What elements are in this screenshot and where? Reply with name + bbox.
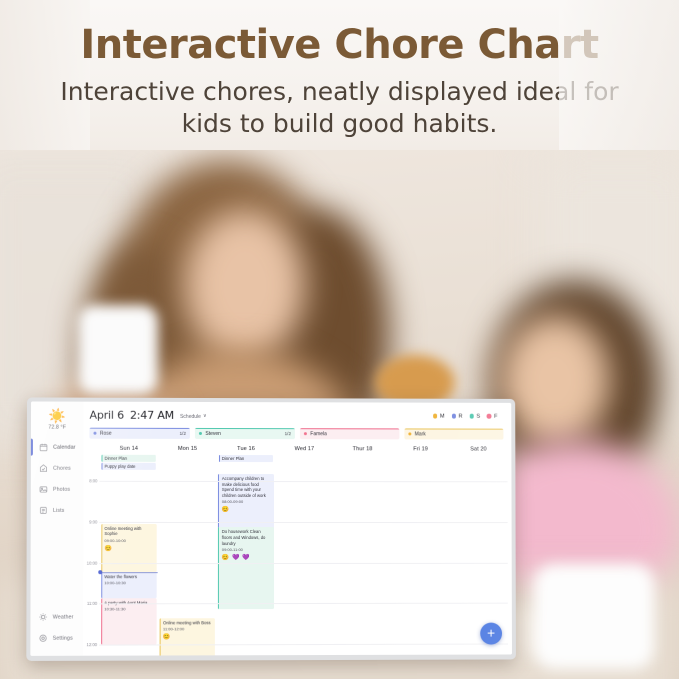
- member-chip-accent: [195, 428, 295, 430]
- sidebar-weather-widget[interactable]: ☀️ 72.8 °F: [31, 406, 84, 436]
- all-day-column: [334, 455, 392, 470]
- photos-icon: [39, 485, 48, 494]
- event-accent-bar: [101, 524, 102, 572]
- current-date: April 6: [89, 409, 123, 422]
- day-header-row: Sun 14Mon 15Tue 16Wed 17Thur 18Fri 19Sat…: [83, 444, 511, 456]
- plus-icon: +: [487, 626, 495, 640]
- member-chip-accent: [404, 428, 503, 430]
- lists-icon: [39, 506, 48, 515]
- time-grid-body: 8:009:0010:0011:0012:00 Online meeting w…: [83, 470, 512, 656]
- event-accent-bar: [101, 463, 102, 470]
- sidebar-item-settings-label: Settings: [53, 635, 73, 641]
- legend-dot-icon: [469, 414, 474, 419]
- event-time: 10:30-11:30: [104, 606, 154, 612]
- event-accent-bar: [101, 572, 102, 598]
- event-time: 11:00-12:00: [163, 626, 213, 632]
- sidebar-nav: Calendar Chores Photos: [31, 437, 84, 521]
- sidebar-item-lists-label: Lists: [53, 507, 65, 513]
- event-accent-bar: [101, 598, 102, 644]
- current-time: 2:47 AM: [130, 409, 174, 422]
- legend-label: M: [440, 413, 445, 419]
- member-dot-icon: [304, 432, 307, 435]
- event-emoji: 😊: [163, 633, 213, 641]
- tablet-device: ☀️ 72.8 °F Calendar Chores: [26, 397, 516, 660]
- legend-item-r[interactable]: R: [451, 413, 462, 419]
- member-chip-accent: [300, 428, 400, 430]
- sidebar-item-weather-label: Weather: [53, 614, 74, 620]
- day-header[interactable]: Fri 19: [392, 444, 450, 455]
- view-selector[interactable]: Schedule ∨: [180, 413, 207, 419]
- member-name: Steven: [205, 430, 221, 436]
- all-day-column: [392, 455, 450, 470]
- view-selector-label: Schedule: [180, 413, 201, 419]
- event-time: 09:00-11:00: [222, 547, 271, 552]
- hour-gridline: [99, 522, 507, 523]
- current-time-indicator: [99, 572, 158, 573]
- event-title: Do housework Clean floors and Windows, d…: [222, 529, 271, 546]
- event-title: Accompany children to make delicious foo…: [222, 476, 271, 499]
- legend-dot-icon: [433, 414, 438, 419]
- member-progress: 1/2: [180, 431, 186, 436]
- sidebar-item-photos[interactable]: Photos: [31, 479, 84, 500]
- calendar-event[interactable]: A party with Aunt Maria10:30-11:30: [101, 598, 157, 645]
- event-accent-bar: [160, 618, 161, 656]
- member-name: Rose: [100, 430, 112, 436]
- day-header[interactable]: Tue 16: [217, 444, 275, 455]
- time-label: 9:00: [89, 519, 97, 524]
- event-time: 10:00-10:30: [104, 580, 154, 585]
- all-day-column: [275, 455, 333, 470]
- all-day-column: [158, 455, 217, 470]
- day-header[interactable]: Mon 15: [158, 444, 217, 455]
- member-dot-icon: [199, 432, 202, 435]
- weather-icon: [39, 613, 48, 622]
- member-name: Famela: [310, 431, 327, 437]
- page-subtitle: Interactive chores, neatly displayed ide…: [40, 76, 639, 140]
- page-title: Interactive Chore Chart: [0, 22, 679, 68]
- event-title: Water the flowers: [104, 574, 154, 580]
- legend-dot-icon: [451, 414, 456, 419]
- day-header[interactable]: Wed 17: [275, 444, 333, 455]
- sidebar-item-lists[interactable]: Lists: [31, 500, 84, 521]
- all-day-event[interactable]: Dinner Plan: [101, 455, 156, 462]
- all-day-column: Dinner PlanPuppy play date: [99, 455, 158, 470]
- all-day-column: Dinner Plan: [217, 455, 275, 470]
- event-title: Online meeting with Boss: [163, 620, 213, 626]
- event-accent-bar: [219, 455, 220, 462]
- calendar-icon: [39, 443, 48, 452]
- event-emoji: 😊: [104, 545, 154, 553]
- temperature-value: 72.8 °F: [31, 425, 83, 431]
- member-chip-rose[interactable]: Rose1/2: [89, 428, 189, 439]
- member-chip-steven[interactable]: Steven1/2: [195, 428, 295, 439]
- sun-icon: ☀️: [31, 409, 83, 424]
- sidebar-item-calendar[interactable]: Calendar: [31, 437, 84, 458]
- legend-item-f[interactable]: F: [487, 413, 497, 419]
- calendar-event[interactable]: Water the flowers10:00-10:30: [101, 572, 157, 598]
- settings-icon: [39, 634, 48, 643]
- sidebar-item-calendar-label: Calendar: [53, 444, 75, 450]
- member-chip-famela[interactable]: Famela: [300, 428, 400, 439]
- all-day-row: Dinner PlanPuppy play dateDinner Plan: [83, 455, 511, 471]
- member-dot-icon: [93, 432, 96, 435]
- day-header[interactable]: Sat 20: [450, 444, 508, 455]
- calendar-event[interactable]: Online meeting with Boss11:00-12:00😊: [160, 618, 216, 656]
- topbar: April 6 2:47 AM Schedule ∨ MRSF: [83, 402, 511, 428]
- legend-item-s[interactable]: S: [469, 413, 480, 419]
- member-name: Mark: [415, 431, 426, 437]
- sidebar: ☀️ 72.8 °F Calendar Chores: [30, 401, 83, 655]
- member-progress: 1/2: [285, 431, 291, 436]
- event-emoji: 😊 💜 💜: [222, 554, 271, 562]
- member-dot-icon: [408, 432, 411, 435]
- event-accent-bar: [218, 527, 219, 608]
- legend-label: F: [494, 413, 497, 419]
- tablet-screen: ☀️ 72.8 °F Calendar Chores: [30, 401, 512, 655]
- legend-dot-icon: [487, 414, 492, 419]
- member-legend: MRSF: [433, 413, 502, 419]
- event-title: Online meeting with Sophie: [104, 526, 154, 537]
- member-chip-row: Rose1/2Steven1/2FamelaMark: [83, 427, 511, 445]
- all-day-event[interactable]: Dinner Plan: [219, 455, 273, 462]
- sidebar-item-chores-label: Chores: [53, 465, 71, 471]
- add-event-button[interactable]: +: [480, 623, 502, 645]
- legend-label: R: [458, 413, 462, 419]
- event-time: 08:00-09:00: [222, 499, 271, 504]
- event-emoji: 😊: [222, 506, 271, 514]
- time-label: 11:00: [87, 601, 97, 606]
- sidebar-item-settings[interactable]: Settings: [30, 628, 83, 649]
- time-label: 12:00: [87, 642, 98, 647]
- all-day-column: [450, 455, 508, 470]
- legend-item-m[interactable]: M: [433, 413, 445, 419]
- sidebar-item-weather[interactable]: Weather: [30, 606, 83, 627]
- main-panel: April 6 2:47 AM Schedule ∨ MRSF Rose1/2S…: [83, 402, 512, 656]
- calendar-grid: Sun 14Mon 15Tue 16Wed 17Thur 18Fri 19Sat…: [83, 444, 512, 656]
- all-day-event[interactable]: Puppy play date: [101, 463, 156, 470]
- calendar-event[interactable]: Online meeting with Sophie09:00-10:00😊: [101, 524, 157, 572]
- promo-banner: Interactive Chore Chart Interactive chor…: [0, 0, 679, 152]
- day-header[interactable]: Sun 14: [99, 444, 158, 455]
- sidebar-item-chores[interactable]: Chores: [31, 458, 84, 479]
- member-chip-accent: [89, 428, 189, 430]
- sidebar-nav-bottom: Weather Settings: [30, 606, 83, 655]
- photo-mug: [78, 305, 158, 395]
- chevron-down-icon: ∨: [203, 414, 207, 419]
- time-label: 10:00: [87, 560, 98, 565]
- sidebar-item-photos-label: Photos: [53, 486, 70, 492]
- day-header[interactable]: Thur 18: [334, 444, 392, 455]
- chores-icon: [39, 464, 48, 473]
- member-chip-mark[interactable]: Mark: [404, 428, 503, 439]
- event-time: 09:00-10:00: [104, 538, 154, 543]
- time-label: 8:00: [89, 479, 97, 484]
- calendar-event[interactable]: Do housework Clean floors and Windows, d…: [218, 527, 274, 608]
- photo-woman-face: [185, 210, 305, 360]
- event-accent-bar: [101, 455, 102, 462]
- photo-girl-face: [500, 315, 610, 445]
- time-axis: 8:009:0010:0011:0012:00: [83, 470, 99, 656]
- photo-cup: [534, 564, 654, 669]
- legend-label: S: [476, 413, 480, 419]
